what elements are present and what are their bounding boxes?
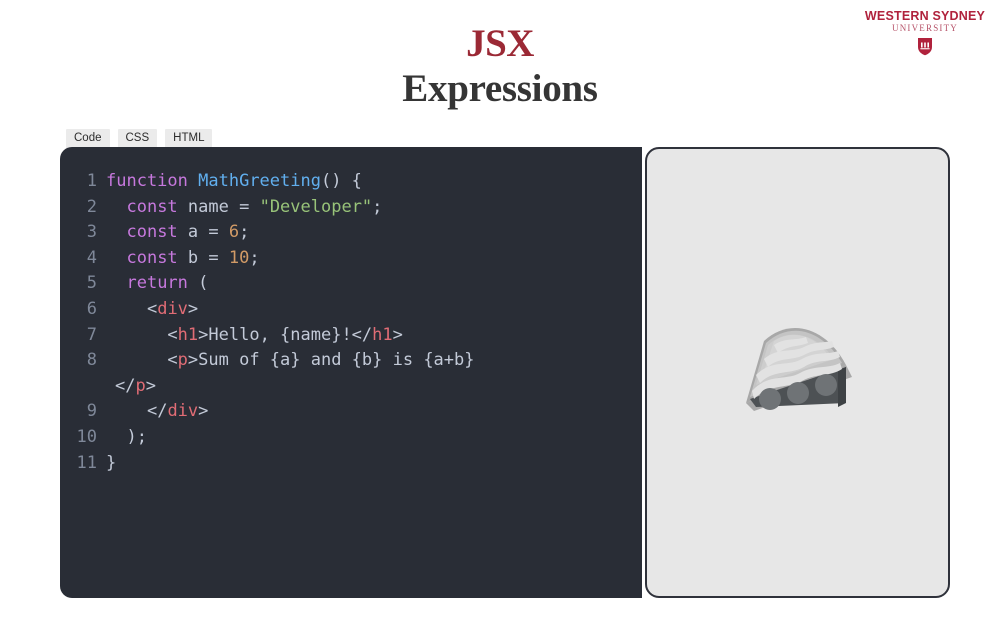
line-content: <h1>Hello, {name}!</h1> <box>106 323 403 349</box>
line-number: 5 <box>60 271 106 297</box>
line-content: } <box>106 451 116 477</box>
line-number <box>60 374 106 400</box>
line-number: 11 <box>60 451 106 477</box>
code-line: 11 } <box>60 451 642 477</box>
code-editor-panel[interactable]: 1 function MathGreeting() { 2 const name… <box>60 147 642 598</box>
editor-tabs: Code CSS HTML <box>66 129 212 149</box>
line-content: <div> <box>106 297 198 323</box>
code-line: 4 const b = 10; <box>60 246 642 272</box>
line-content: </p> <box>106 374 156 400</box>
title-line-2: Expressions <box>0 66 1000 112</box>
line-content: const a = 6; <box>106 220 249 246</box>
code-line: 9 </div> <box>60 399 642 425</box>
code-lines: 1 function MathGreeting() { 2 const name… <box>60 169 642 476</box>
line-content: <p>Sum of {a} and {b} is {a+b} <box>106 348 475 374</box>
code-line: 5 return ( <box>60 271 642 297</box>
preview-wrapper <box>642 147 950 598</box>
line-number: 7 <box>60 323 106 349</box>
slide-title: JSX Expressions <box>0 22 1000 112</box>
code-line: 3 const a = 6; <box>60 220 642 246</box>
slide-canvas: WESTERN SYDNEY UNIVERSITY JSX Expression… <box>0 0 1000 624</box>
line-number: 8 <box>60 348 106 374</box>
tab-css[interactable]: CSS <box>118 129 158 149</box>
pie-slice-icon <box>734 315 862 431</box>
preview-panel[interactable] <box>645 147 950 598</box>
code-line: 2 const name = "Developer"; <box>60 195 642 221</box>
line-content: const b = 10; <box>106 246 260 272</box>
line-content: return ( <box>106 271 208 297</box>
line-number: 3 <box>60 220 106 246</box>
line-number: 10 <box>60 425 106 451</box>
line-number: 4 <box>60 246 106 272</box>
line-content: ); <box>106 425 147 451</box>
title-line-1: JSX <box>0 22 1000 66</box>
code-line: 7 <h1>Hello, {name}!</h1> <box>60 323 642 349</box>
line-number: 2 <box>60 195 106 221</box>
editor-preview-row: 1 function MathGreeting() { 2 const name… <box>60 147 950 598</box>
line-number: 9 <box>60 399 106 425</box>
code-line: 1 function MathGreeting() { <box>60 169 642 195</box>
code-line: 8 <p>Sum of {a} and {b} is {a+b} <box>60 348 642 374</box>
line-content: const name = "Developer"; <box>106 195 382 221</box>
line-number: 1 <box>60 169 106 195</box>
code-line: 10 ); <box>60 425 642 451</box>
line-content: function MathGreeting() { <box>106 169 362 195</box>
code-line: 6 <div> <box>60 297 642 323</box>
line-content: </div> <box>106 399 208 425</box>
tab-html[interactable]: HTML <box>165 129 212 149</box>
code-line-wrapped: </p> <box>60 374 642 400</box>
line-number: 6 <box>60 297 106 323</box>
tab-code[interactable]: Code <box>66 129 110 149</box>
